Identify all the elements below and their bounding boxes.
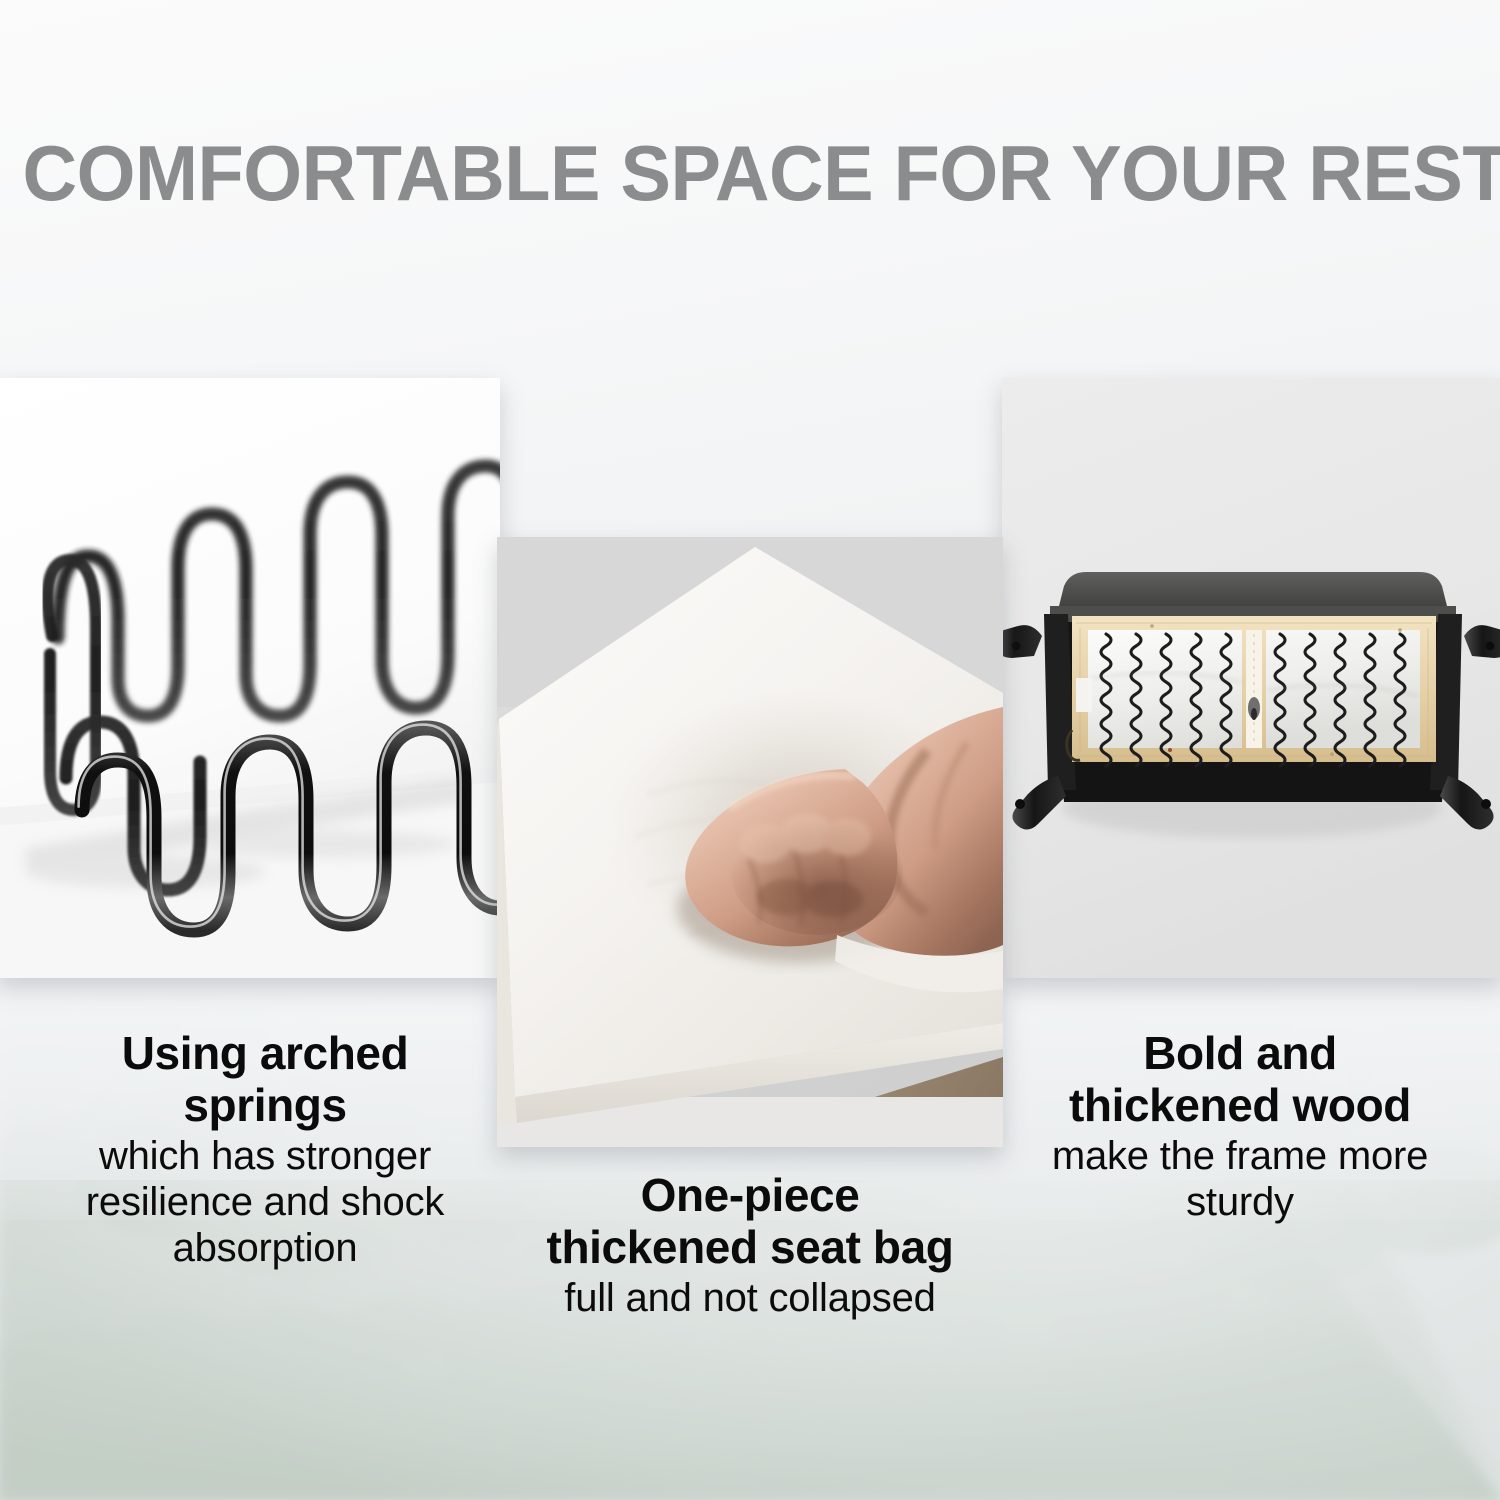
page-title: COMFORTABLE SPACE FOR YOUR REST — [23, 132, 1478, 215]
caption-headline-line-1: One-piece — [500, 1170, 1000, 1222]
feature-image-arched-springs — [0, 378, 500, 978]
caption-headline-line-2: thickened seat bag — [500, 1222, 1000, 1274]
caption-headline-line-1: Using arched — [30, 1028, 500, 1080]
caption-sub-line-1: make the frame more — [1000, 1133, 1480, 1179]
caption-headline-line-2: thickened wood — [1000, 1080, 1480, 1132]
feature-image-seat-foam — [497, 537, 1003, 1147]
feature-caption-seat-bag: One-piece thickened seat bag full and no… — [500, 1170, 1000, 1321]
feature-caption-arched-springs: Using arched springs which has stronger … — [30, 1028, 500, 1271]
caption-sub-line-1: full and not collapsed — [500, 1275, 1000, 1321]
feature-image-wood-frame — [1002, 378, 1500, 978]
caption-sub-line-1: which has stronger — [30, 1133, 500, 1179]
caption-headline-line-1: Bold and — [1000, 1028, 1480, 1080]
caption-sub-line-3: absorption — [30, 1225, 500, 1271]
caption-headline-line-2: springs — [30, 1080, 500, 1132]
caption-sub-line-2: sturdy — [1000, 1179, 1480, 1225]
feature-caption-thickened-wood: Bold and thickened wood make the frame m… — [1000, 1028, 1480, 1225]
caption-sub-line-2: resilience and shock — [30, 1179, 500, 1225]
